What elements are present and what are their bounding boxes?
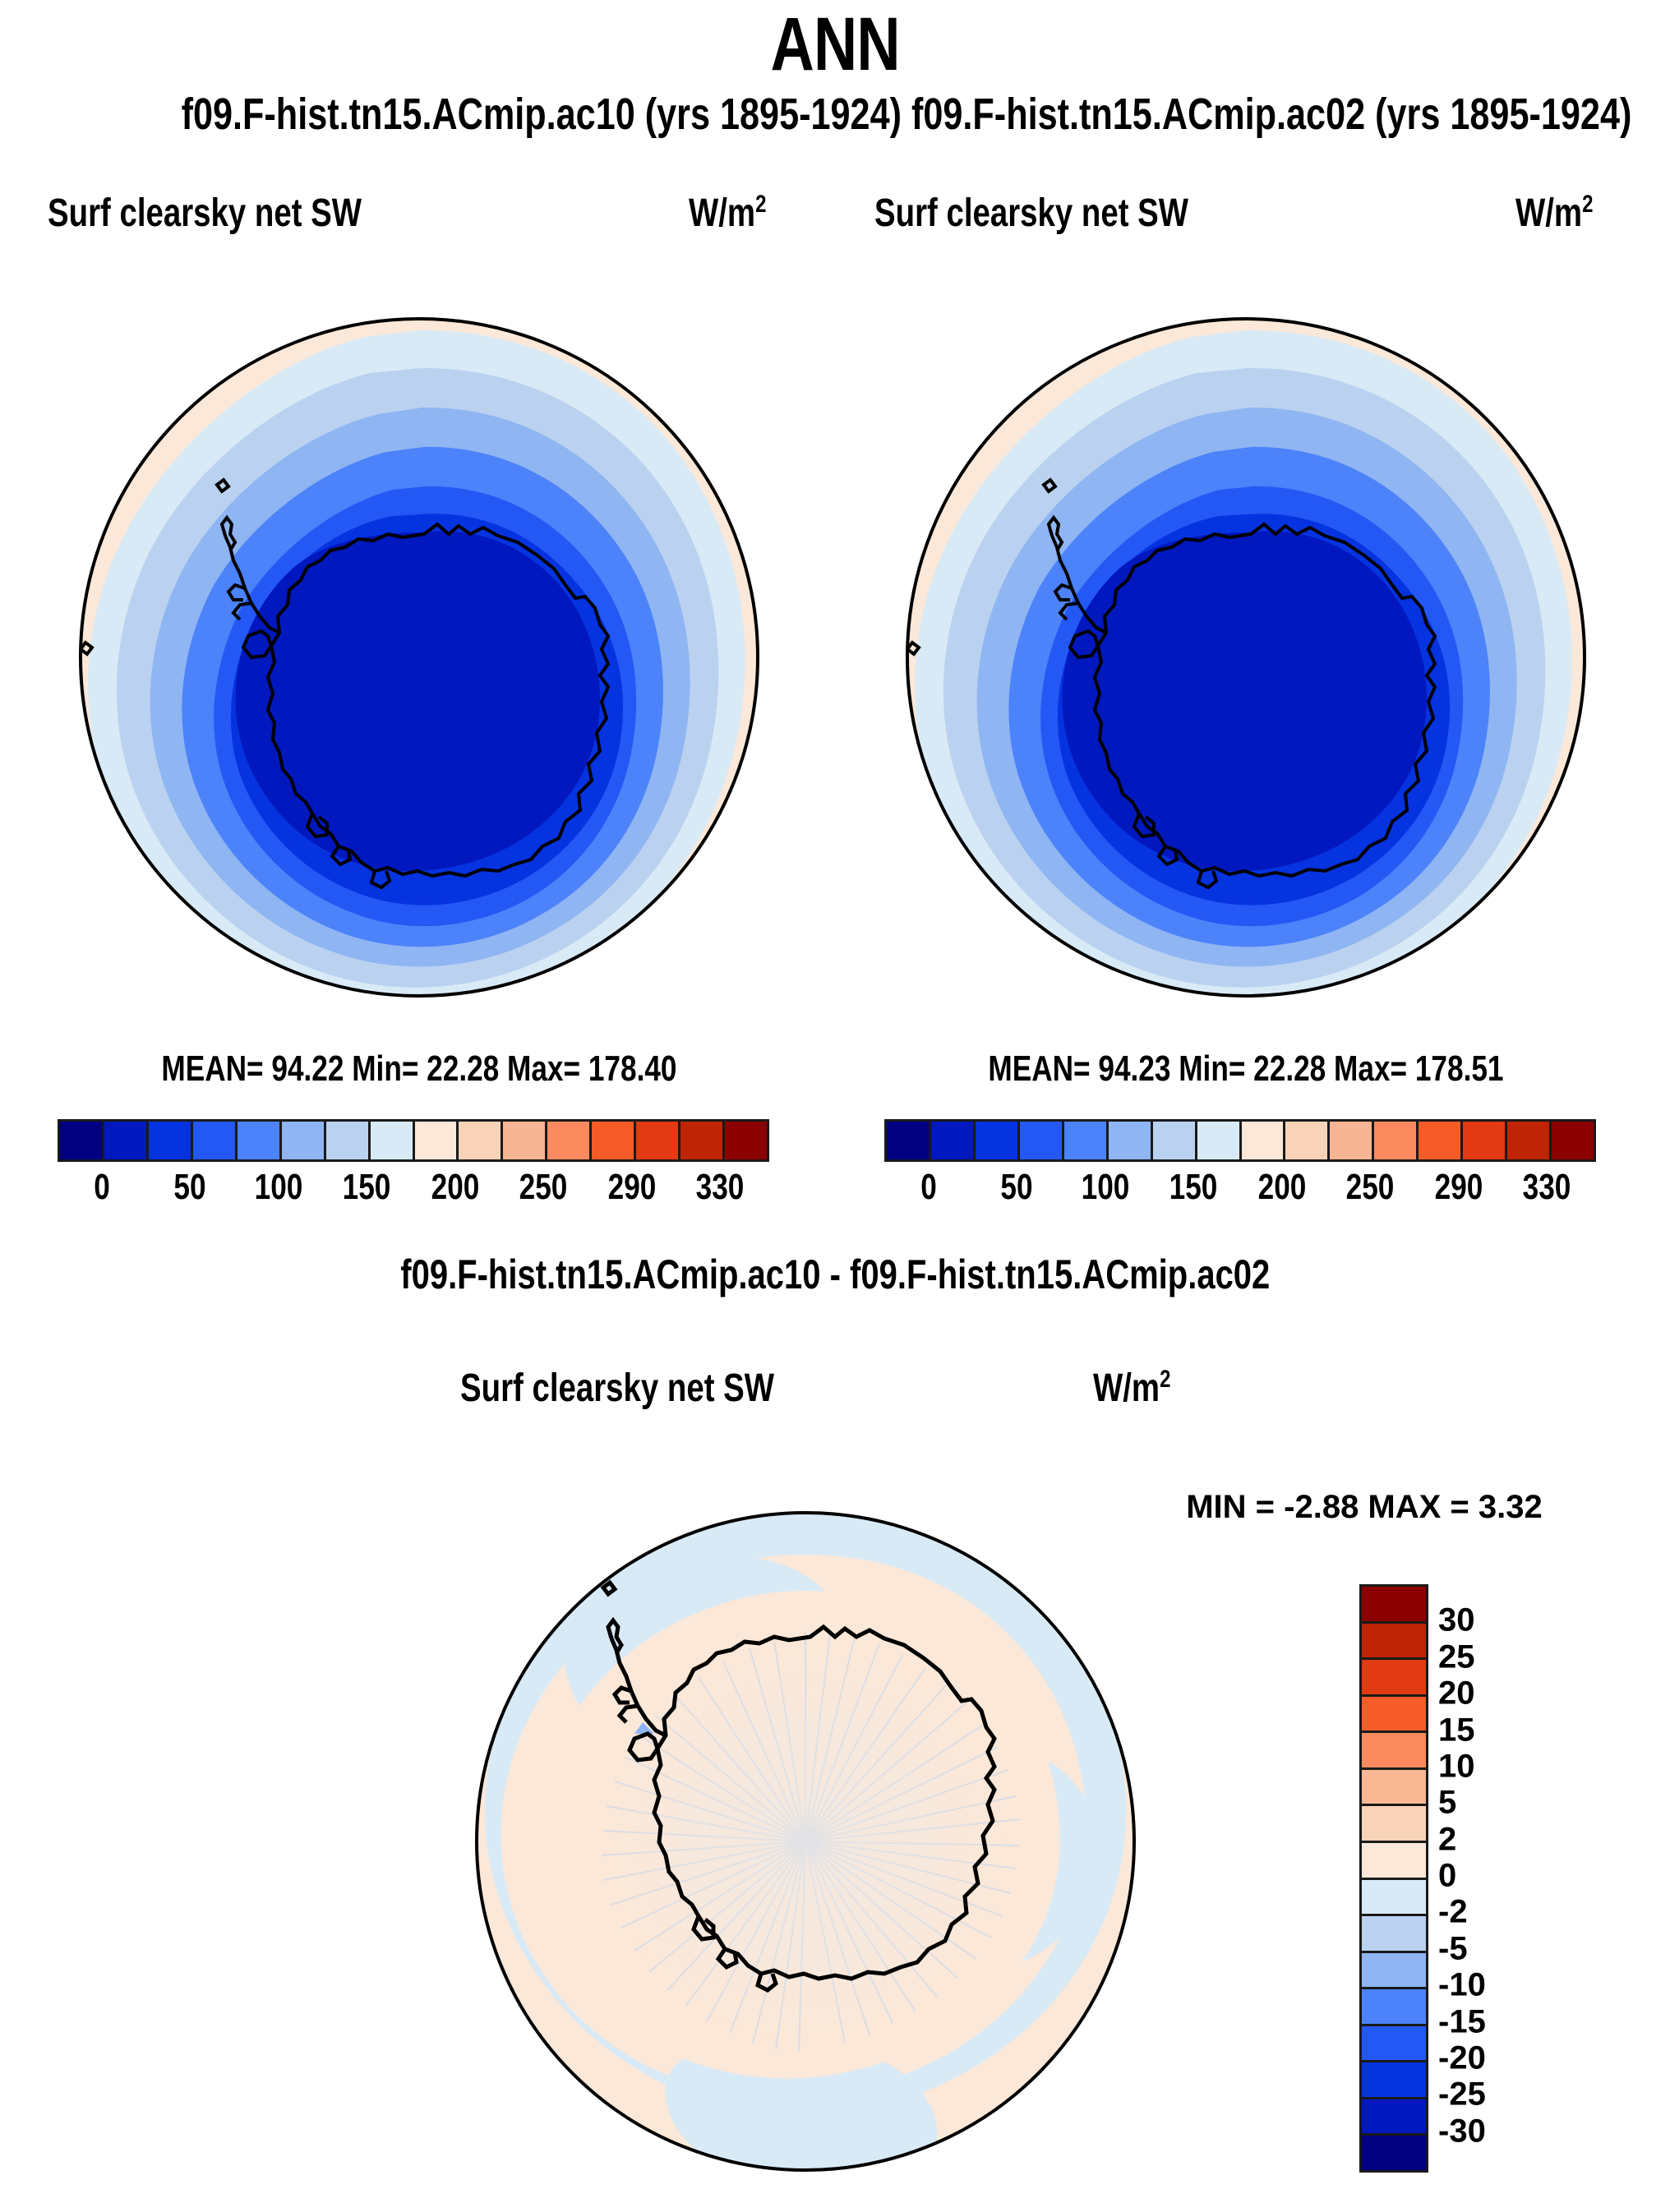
- colorbar-tick-label: -25: [1438, 2076, 1486, 2113]
- right-colorbar-labels: 050100150200250290330: [884, 1167, 1596, 1216]
- colorbar-tick-label: 15: [1438, 1712, 1475, 1749]
- colorbar-cell: [1419, 1122, 1463, 1159]
- colorbar-cell: [1362, 2099, 1426, 2136]
- colorbar-tick-label: -5: [1438, 1930, 1468, 1967]
- diff-colorbar[interactable]: [1359, 1584, 1428, 2173]
- right-map-svg: [860, 271, 1632, 1044]
- colorbar-cell: [238, 1122, 282, 1159]
- left-panel-stats: MEAN= 94.22 Min= 22.28 Max= 178.40: [33, 1048, 805, 1090]
- left-map: [33, 271, 805, 1044]
- colorbar-tick-label: 100: [248, 1167, 308, 1208]
- colorbar-cell: [1020, 1122, 1064, 1159]
- colorbar-cell: [459, 1122, 503, 1159]
- colorbar-cell: [1552, 1122, 1594, 1159]
- colorbar-cell: [1362, 1806, 1426, 1843]
- colorbar-cell: [503, 1122, 547, 1159]
- colorbar-cell: [1330, 1122, 1374, 1159]
- diff-map: [427, 1476, 1183, 2207]
- colorbar-cell: [547, 1122, 592, 1159]
- figure-title: ANN: [0, 2, 1670, 88]
- colorbar-cell: [887, 1122, 931, 1159]
- right-map: [860, 271, 1632, 1044]
- diff-panel-variable-label: Surf clearsky net SW: [460, 1366, 853, 1411]
- colorbar-cell: [1362, 1624, 1426, 1661]
- colorbar-cell: [1362, 1770, 1426, 1807]
- colorbar-cell: [326, 1122, 371, 1159]
- colorbar-tick-label: -30: [1438, 2113, 1486, 2150]
- colorbar-cell: [1285, 1122, 1330, 1159]
- diff-map-svg: [427, 1476, 1183, 2207]
- colorbar-tick-label: -2: [1438, 1894, 1468, 1931]
- right-colorbar[interactable]: [884, 1119, 1596, 1162]
- colorbar-tick-label: 200: [425, 1167, 485, 1208]
- colorbar-tick-label: 330: [690, 1167, 750, 1208]
- colorbar-tick-label: 200: [1252, 1167, 1312, 1208]
- figure-subtitle: f09.F-hist.tn15.ACmip.ac10 (yrs 1895-192…: [0, 89, 1670, 140]
- colorbar-cell: [149, 1122, 193, 1159]
- colorbar-cell: [1362, 1916, 1426, 1953]
- colorbar-cell: [592, 1122, 636, 1159]
- left-colorbar-labels: 050100150200250290330: [58, 1167, 769, 1216]
- colorbar-tick-label: 330: [1517, 1167, 1577, 1208]
- colorbar-tick-label: 25: [1438, 1638, 1475, 1675]
- colorbar-tick-label: 20: [1438, 1675, 1475, 1712]
- right-panel-variable-label: Surf clearsky net SW: [874, 191, 1267, 236]
- diff-panel-minmax: MIN = -2.88 MAX = 3.32: [1134, 1489, 1594, 1526]
- left-map-antarctica-fill: [236, 531, 600, 871]
- colorbar-tick-label: -10: [1438, 1967, 1486, 2004]
- left-map-svg: [33, 271, 805, 1044]
- colorbar-tick-label: 250: [514, 1167, 574, 1208]
- colorbar-cell: [1362, 1733, 1426, 1770]
- colorbar-tick-label: 150: [337, 1167, 397, 1208]
- colorbar-cell: [60, 1122, 104, 1159]
- colorbar-cell: [1197, 1122, 1242, 1159]
- colorbar-cell: [725, 1122, 767, 1159]
- colorbar-cell: [1362, 1989, 1426, 2026]
- colorbar-tick-label: 290: [1428, 1167, 1488, 1208]
- diff-colorbar-labels: 3025201510520-2-5-10-15-20-25-30: [1438, 1584, 1603, 2168]
- colorbar-tick-label: 290: [602, 1167, 662, 1208]
- colorbar-tick-label: 250: [1340, 1167, 1400, 1208]
- colorbar-cell: [1362, 1953, 1426, 1990]
- difference-title-text: f09.F-hist.tn15.ACmip.ac10 - f09.F-hist.…: [400, 1251, 1270, 1298]
- colorbar-tick-label: 2: [1438, 1821, 1456, 1858]
- colorbar-tick-label: 5: [1438, 1785, 1456, 1822]
- colorbar-cell: [1109, 1122, 1153, 1159]
- colorbar-cell: [931, 1122, 976, 1159]
- colorbar-tick-label: 0: [1438, 1858, 1456, 1895]
- colorbar-cell: [1362, 1660, 1426, 1697]
- difference-title: f09.F-hist.tn15.ACmip.ac10 - f09.F-hist.…: [0, 1251, 1670, 1298]
- colorbar-cell: [1362, 1843, 1426, 1880]
- colorbar-cell: [1153, 1122, 1197, 1159]
- colorbar-cell: [1362, 1880, 1426, 1917]
- right-panel-stats: MEAN= 94.23 Min= 22.28 Max= 178.51: [860, 1048, 1632, 1090]
- colorbar-tick-label: 10: [1438, 1748, 1475, 1785]
- colorbar-tick-label: 50: [997, 1167, 1037, 1208]
- colorbar-cell: [104, 1122, 149, 1159]
- colorbar-tick-label: 0: [92, 1167, 112, 1208]
- colorbar-cell: [1507, 1122, 1552, 1159]
- colorbar-cell: [1362, 2136, 1426, 2170]
- figure-subtitle-text: f09.F-hist.tn15.ACmip.ac10 (yrs 1895-192…: [182, 89, 1632, 140]
- colorbar-cell: [1374, 1122, 1419, 1159]
- colorbar-cell: [976, 1122, 1020, 1159]
- colorbar-tick-label: 50: [170, 1167, 210, 1208]
- colorbar-cell: [1362, 2062, 1426, 2099]
- colorbar-cell: [1362, 1587, 1426, 1624]
- colorbar-tick-label: -20: [1438, 2039, 1486, 2076]
- colorbar-tick-label: 30: [1438, 1602, 1475, 1639]
- colorbar-cell: [1463, 1122, 1507, 1159]
- colorbar-cell: [193, 1122, 238, 1159]
- colorbar-cell: [371, 1122, 415, 1159]
- colorbar-tick-label: 0: [919, 1167, 939, 1208]
- colorbar-cell: [1242, 1122, 1286, 1159]
- colorbar-cell: [415, 1122, 459, 1159]
- colorbar-cell: [636, 1122, 680, 1159]
- figure-title-text: ANN: [770, 2, 899, 88]
- colorbar-cell: [1362, 2026, 1426, 2063]
- colorbar-tick-label: -15: [1438, 2003, 1486, 2040]
- colorbar-cell: [1064, 1122, 1109, 1159]
- left-colorbar[interactable]: [58, 1119, 769, 1162]
- colorbar-cell: [282, 1122, 326, 1159]
- left-panel-units-label: W/m2: [689, 191, 786, 236]
- colorbar-tick-label: 150: [1164, 1167, 1224, 1208]
- right-panel-units-label: W/m2: [1515, 191, 1612, 236]
- colorbar-cell: [1362, 1697, 1426, 1734]
- colorbar-cell: [680, 1122, 725, 1159]
- left-panel-variable-label: Surf clearsky net SW: [48, 191, 441, 236]
- right-map-antarctica-fill: [1063, 531, 1427, 871]
- diff-panel-units-label: W/m2: [1093, 1366, 1190, 1411]
- colorbar-tick-label: 100: [1075, 1167, 1135, 1208]
